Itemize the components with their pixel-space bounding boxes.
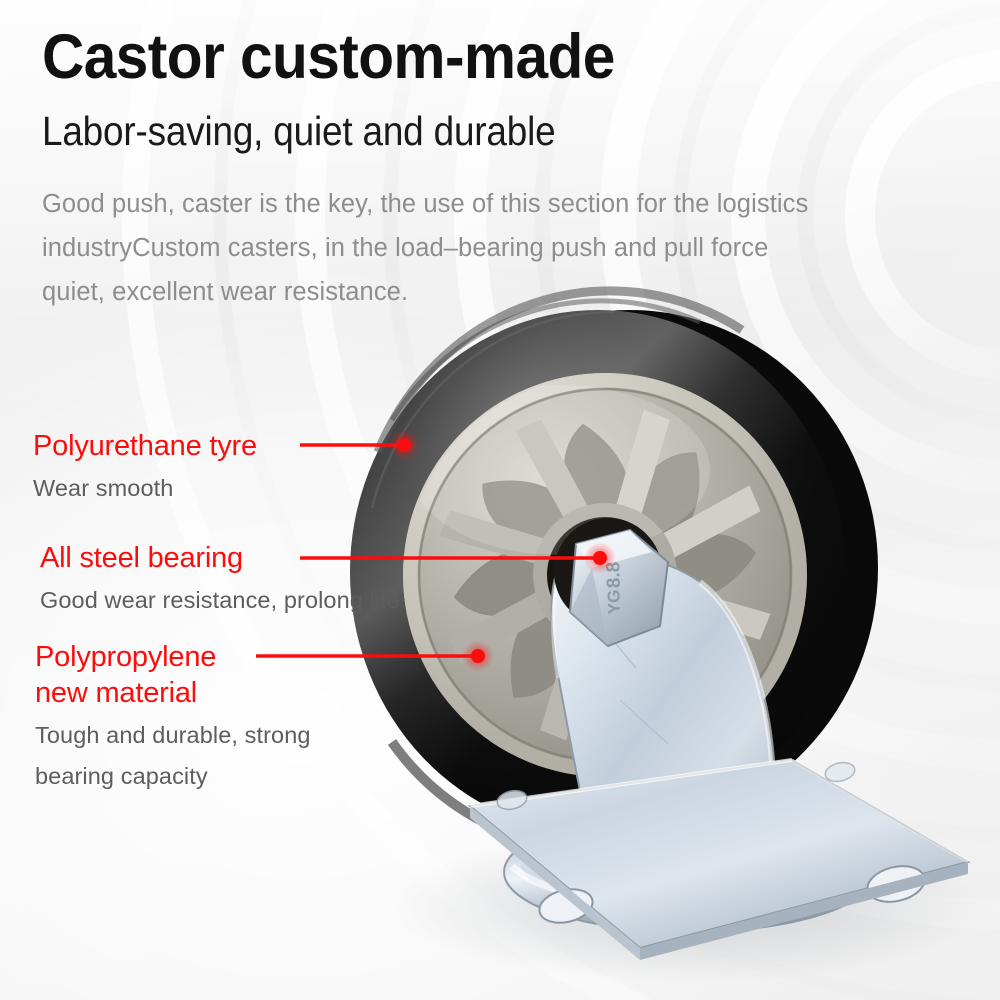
annotation-polypropylene-new-material: Polypropylene new material Tough and dur… (35, 639, 311, 797)
annotation-all-steel-bearing: All steel bearing Good wear resistance, … (40, 540, 400, 621)
product-infographic: 8.8 YG Castor custom-mad (0, 0, 1000, 1000)
annotation-title: Polypropylene new material (35, 639, 311, 711)
annotation-title: All steel bearing (40, 540, 400, 576)
annotation-subtitle: Tough and durable, strong bearing capaci… (35, 715, 311, 797)
annotation-subtitle: Wear smooth (33, 468, 257, 509)
annotation-labels: Polyurethane tyre Wear smooth All steel … (0, 0, 1000, 1000)
annotation-title: Polyurethane tyre (33, 428, 257, 464)
annotation-polyurethane-tyre: Polyurethane tyre Wear smooth (33, 428, 257, 509)
annotation-subtitle: Good wear resistance, prolong life (40, 580, 400, 621)
